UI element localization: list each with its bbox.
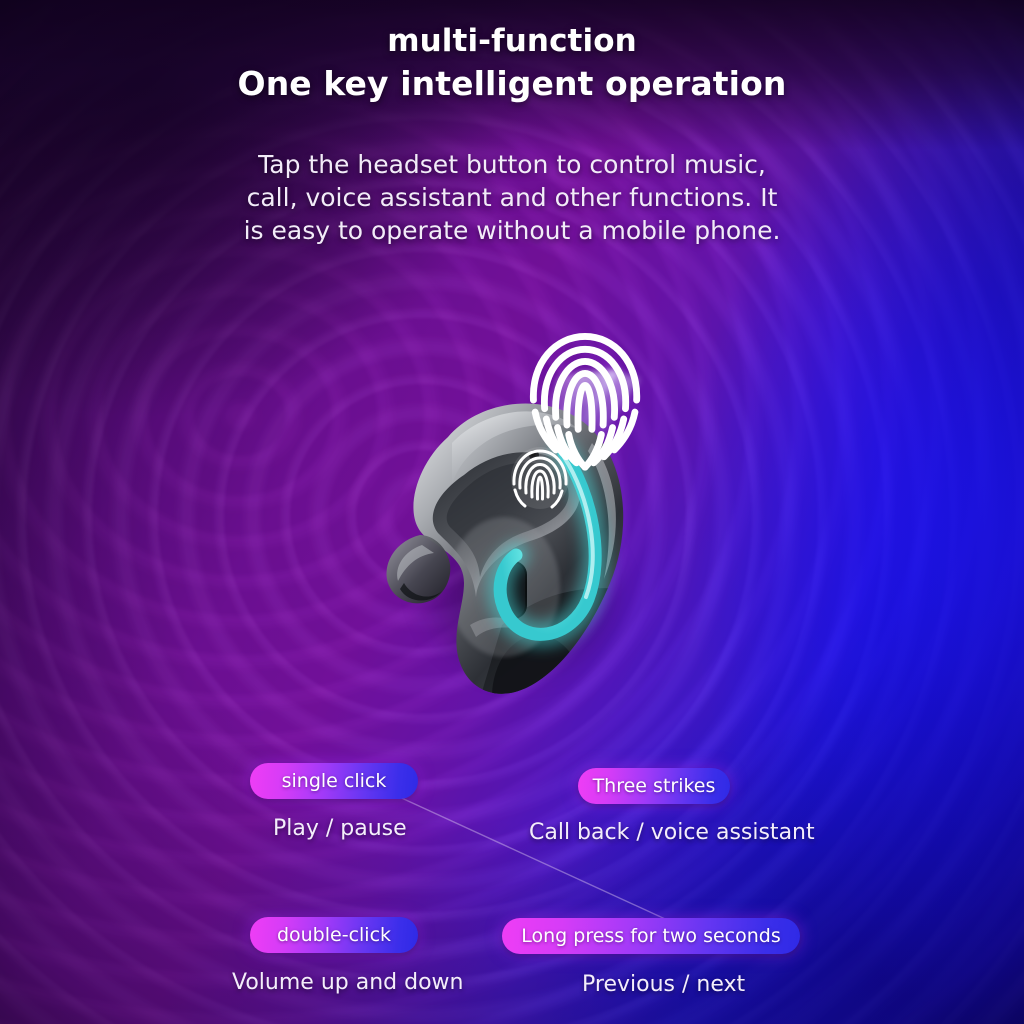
headline-line-2: One key intelligent operation [0,62,1024,106]
page-title: multi-function One key intelligent opera… [0,20,1024,106]
description-paragraph: Tap the headset button to control music,… [0,148,1024,247]
gesture-action-three-strikes: Call back / voice assistant [529,820,815,845]
earbud-illustration [352,325,682,725]
description-line-1: Tap the headset button to control music, [0,148,1024,181]
ear-wing [387,535,451,603]
gesture-pill-single-click[interactable]: single click [250,763,418,799]
headline-line-1: multi-function [0,20,1024,62]
gesture-action-double-click: Volume up and down [232,970,463,995]
description-line-3: is easy to operate without a mobile phon… [0,214,1024,247]
fingerprint-icon-contact [511,447,569,509]
description-line-2: call, voice assistant and other function… [0,181,1024,214]
gesture-pill-long-press[interactable]: Long press for two seconds [502,918,800,954]
gesture-action-single-click: Play / pause [273,816,407,841]
gesture-pill-double-click[interactable]: double-click [250,917,418,953]
product-feature-poster: multi-function One key intelligent opera… [0,0,1024,1024]
gesture-pill-three-strikes[interactable]: Three strikes [578,768,730,804]
earbud-graphic [352,325,682,725]
gesture-action-long-press: Previous / next [582,972,745,997]
